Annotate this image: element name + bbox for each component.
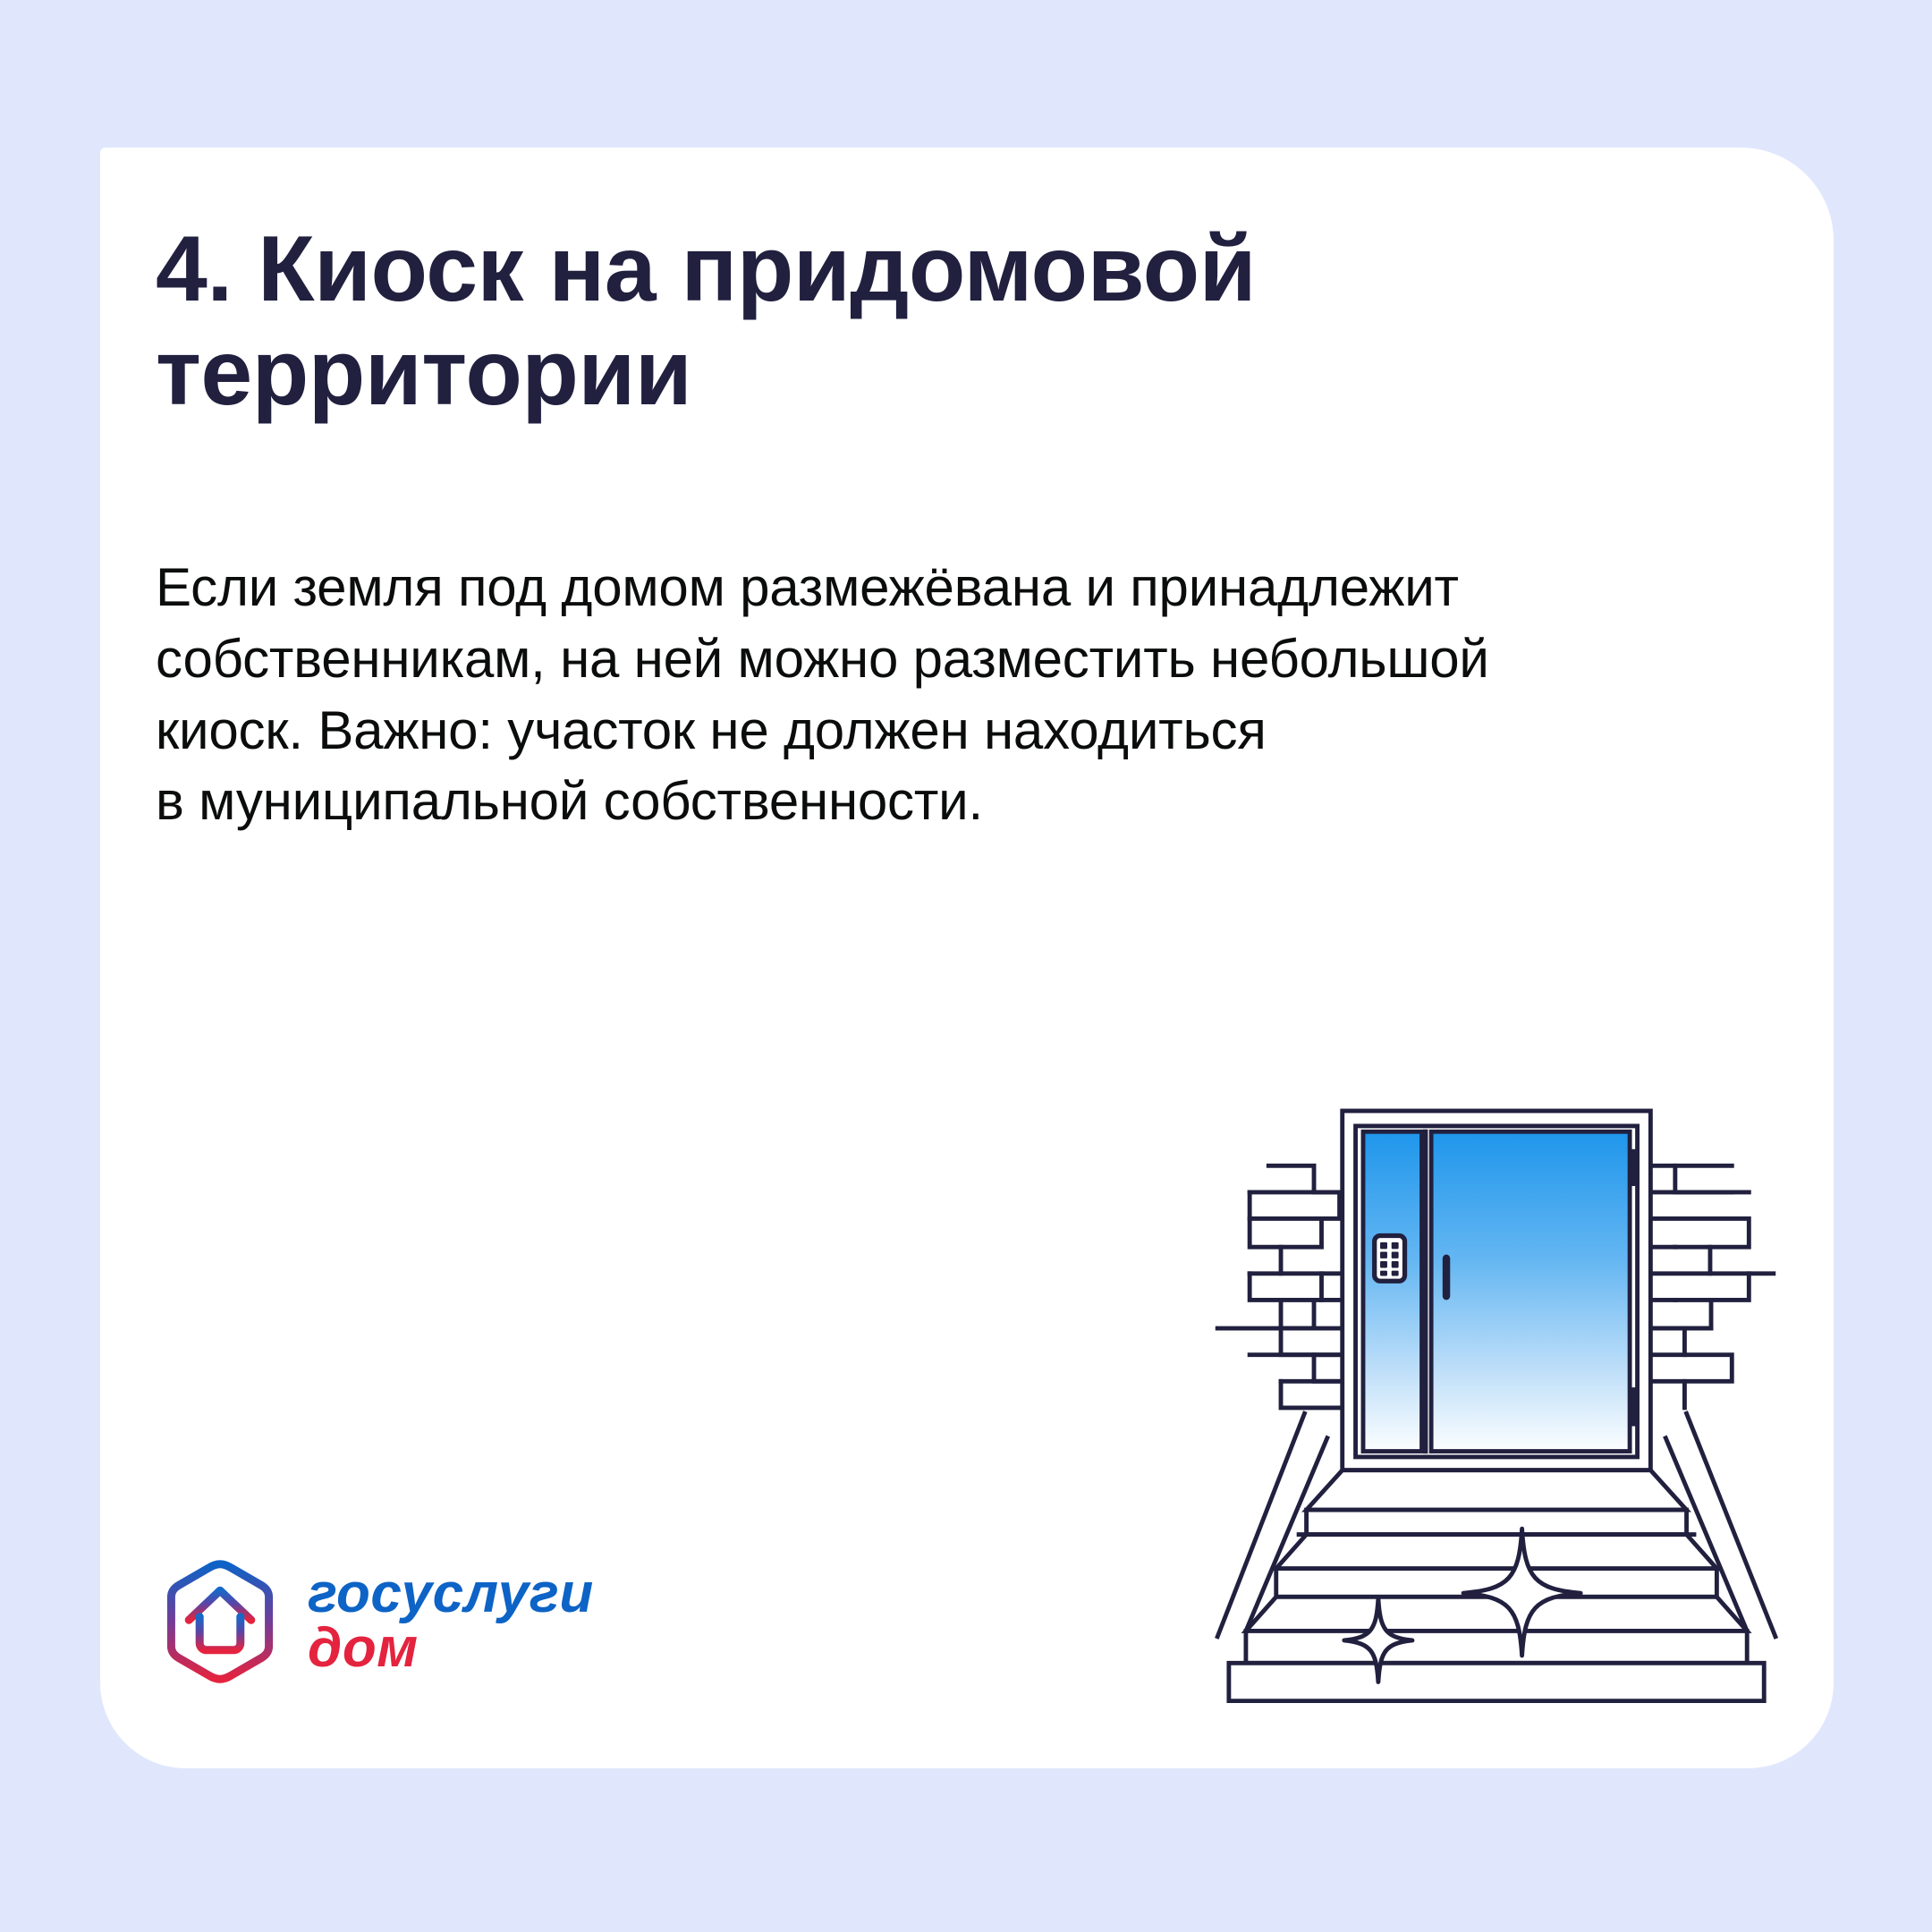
brand-word-gosuslugi: госуслуги [308, 1567, 594, 1622]
body-paragraph: Если земля под домом размежёвана и прина… [156, 552, 1676, 837]
body-line: собственникам, на ней можно разместить н… [156, 623, 1676, 695]
content-card: 4. Киоск на придомовой территории Если з… [100, 148, 1834, 1768]
intercom-keypad [1375, 1236, 1405, 1282]
brand-logo: госуслуги дом [156, 1557, 594, 1686]
body-line: киоск. Важно: участок не должен находить… [156, 695, 1676, 767]
slide-root: 4. Киоск на придомовой территории Если з… [0, 0, 1932, 1932]
brand-word-dom: дом [308, 1622, 594, 1676]
page-title: 4. Киоск на придомовой территории [156, 217, 1479, 426]
gosuslugi-dom-house-hexagon-icon [156, 1557, 284, 1686]
body-line: Если земля под домом размежёвана и прина… [156, 552, 1676, 623]
brick-wall-left [1217, 1165, 1339, 1408]
glass-entrance-door [1363, 1131, 1630, 1451]
body-line: в муниципальной собственности. [156, 766, 1676, 837]
brand-wordmark: госуслуги дом [308, 1567, 594, 1676]
entrance-door-with-steps-illustration [1200, 1062, 1791, 1724]
brick-wall-right [1648, 1165, 1774, 1408]
